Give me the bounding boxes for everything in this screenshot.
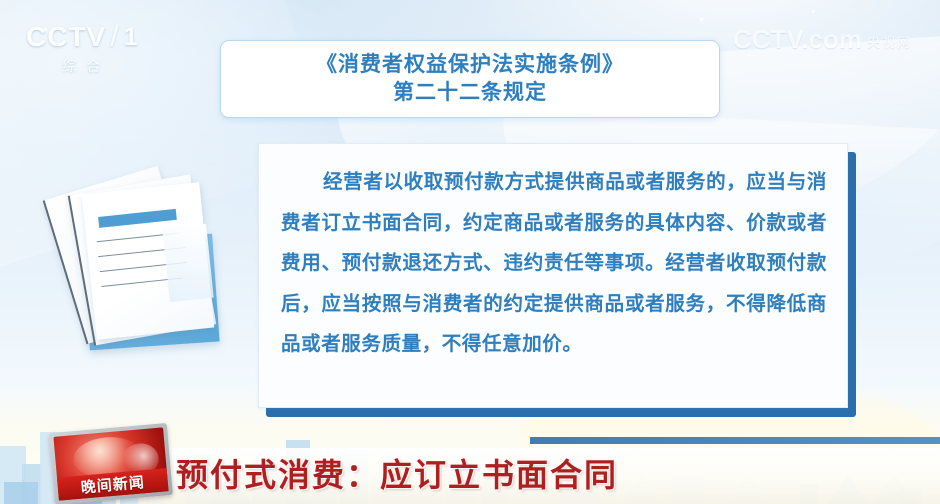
document-header-bar bbox=[98, 209, 177, 228]
lower-third-banner: 晚间新闻 预付式消费：应订立书面合同 bbox=[0, 438, 940, 504]
regulation-title-line-2: 第二十二条规定 bbox=[393, 79, 547, 107]
regulation-title-card: 《消费者权益保护法实施条例》 第二十二条规定 bbox=[220, 40, 720, 118]
news-headline: 预付式消费：应订立书面合同 bbox=[176, 450, 618, 496]
contract-document-illustration bbox=[60, 172, 240, 362]
lower-third-top-bar bbox=[530, 437, 940, 444]
program-logo-frame: 晚间新闻 bbox=[49, 423, 173, 504]
regulation-content-panel: 经营者以收取预付款方式提供商品或者服务的，应当与消费者订立书面合同，约定商品或者… bbox=[258, 143, 848, 408]
regulation-title-line-1: 《消费者权益保护法实施条例》 bbox=[316, 51, 624, 79]
program-logo-evening-news: 晚间新闻 bbox=[49, 423, 173, 504]
document-curled-corner bbox=[162, 224, 213, 302]
regulation-body-text: 经营者以收取预付款方式提供商品或者服务的，应当与消费者订立书面合同，约定商品或者… bbox=[281, 162, 827, 365]
broadcast-frame: CCTV / 1 综合 CCTV.com 央视网 《消费者权益保护法实施条例》 … bbox=[0, 0, 940, 504]
